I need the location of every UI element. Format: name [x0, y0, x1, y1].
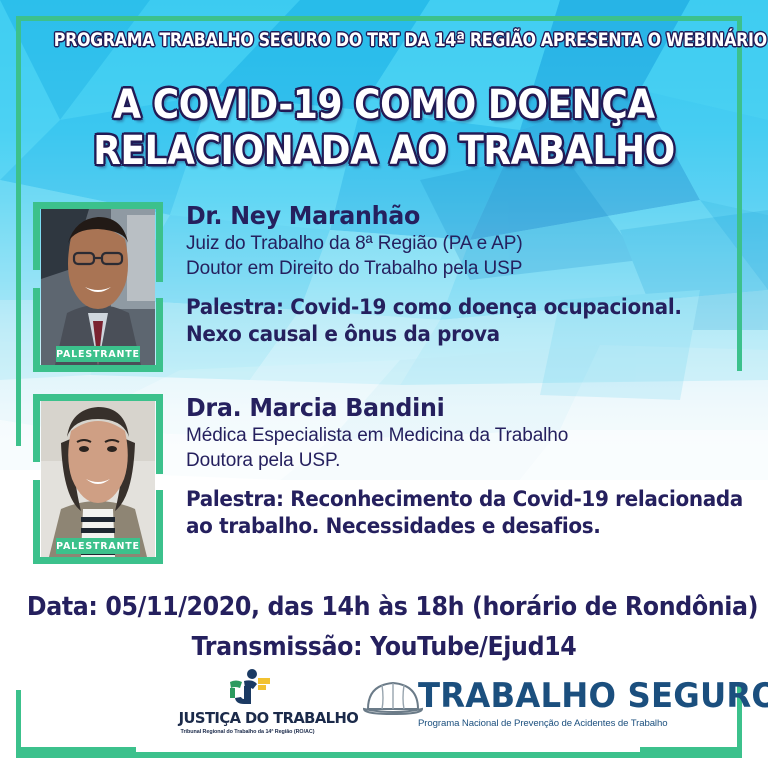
speaker-1-talk-line-2: Nexo causal e ônus da prova — [186, 322, 729, 348]
speaker-2-frame-right-lower — [156, 490, 163, 564]
justica-logo-name: JUSTIÇA DO TRABALHO — [179, 709, 317, 727]
speaker-1-frame-right-lower — [156, 298, 163, 372]
frame-top — [16, 16, 742, 21]
speaker-2-frame-right-upper — [156, 394, 163, 474]
speaker-1-photo — [41, 209, 155, 365]
page-title-line-2: RELACIONADA AO TRABALHO — [38, 130, 729, 173]
speaker-1-talk-line-1: Palestra: Covid-19 como doença ocupacion… — [186, 295, 729, 321]
poster-kicker: PROGRAMA TRABALHO SEGURO DO TRT DA 14ª R… — [54, 30, 714, 51]
speaker-2-info: Dra. Marcia Bandini Médica Especialista … — [186, 394, 758, 540]
justica-mark-icon — [175, 668, 320, 708]
logo-trabalho-seguro: TRABALHO SEGURO Programa Nacional de Pre… — [362, 672, 662, 742]
speaker-1-name: Dr. Ney Maranhão — [186, 202, 729, 230]
trabalho-seguro-logo-subtitle: Programa Nacional de Prevenção de Aciden… — [418, 718, 662, 729]
speaker-2-photo — [41, 401, 155, 557]
speaker-2-talk-line-2: ao trabalho. Necessidades e desafios. — [186, 514, 729, 540]
speaker-1-info: Dr. Ney Maranhão Juiz do Trabalho da 8ª … — [186, 202, 758, 348]
frame-left-lower — [16, 690, 21, 752]
speaker-2-photo-frame: PALESTRANTE — [33, 394, 163, 564]
speaker-1-frame-left-lower — [33, 288, 40, 372]
webinar-poster: PROGRAMA TRABALHO SEGURO DO TRT DA 14ª R… — [0, 0, 768, 768]
speaker-2-role-line-1: Médica Especialista em Medicina da Traba… — [186, 424, 758, 448]
speaker-2-role-line-2: Doutora pela USP. — [186, 449, 758, 473]
speaker-2-frame-bottom — [33, 557, 163, 564]
page-title-line-1: A COVID-19 COMO DOENÇA — [38, 84, 729, 127]
speaker-1-frame-top — [33, 202, 163, 209]
speaker-2-frame-left-lower — [33, 480, 40, 564]
speaker-2-name: Dra. Marcia Bandini — [186, 394, 729, 422]
speaker-1-frame-left-upper — [33, 202, 40, 270]
speaker-2-talk-line-1: Palestra: Reconhecimento da Covid-19 rel… — [186, 487, 729, 513]
speaker-1-badge: PALESTRANTE — [56, 346, 140, 362]
frame-left-upper — [16, 16, 21, 446]
speaker-2-frame-top — [33, 394, 163, 401]
speaker-2-badge: PALESTRANTE — [56, 538, 140, 554]
event-date-line: Data: 05/11/2020, das 14h às 18h (horári… — [27, 592, 741, 622]
logo-justica-do-trabalho: JUSTIÇA DO TRABALHO Tribunal Regional do… — [175, 668, 320, 746]
speaker-1-role-line-1: Juiz do Trabalho da 8ª Região (PA e AP) — [186, 232, 758, 256]
hard-hat-icon — [362, 673, 424, 719]
speaker-1-photo-frame: PALESTRANTE — [33, 202, 163, 372]
speaker-1-frame-right-upper — [156, 202, 163, 282]
speaker-1-frame-bottom — [33, 365, 163, 372]
justica-logo-subtitle: Tribunal Regional do Trabalho da 14ª Reg… — [175, 729, 320, 735]
trabalho-seguro-logo-name: TRABALHO SEGURO — [418, 676, 768, 716]
event-stream-line: Transmissão: YouTube/Ejud14 — [27, 632, 741, 662]
speaker-2-frame-left-upper — [33, 394, 40, 462]
speaker-1-role-line-2: Doutor em Direito do Trabalho pela USP — [186, 257, 758, 281]
frame-bottom-bar — [16, 752, 742, 758]
